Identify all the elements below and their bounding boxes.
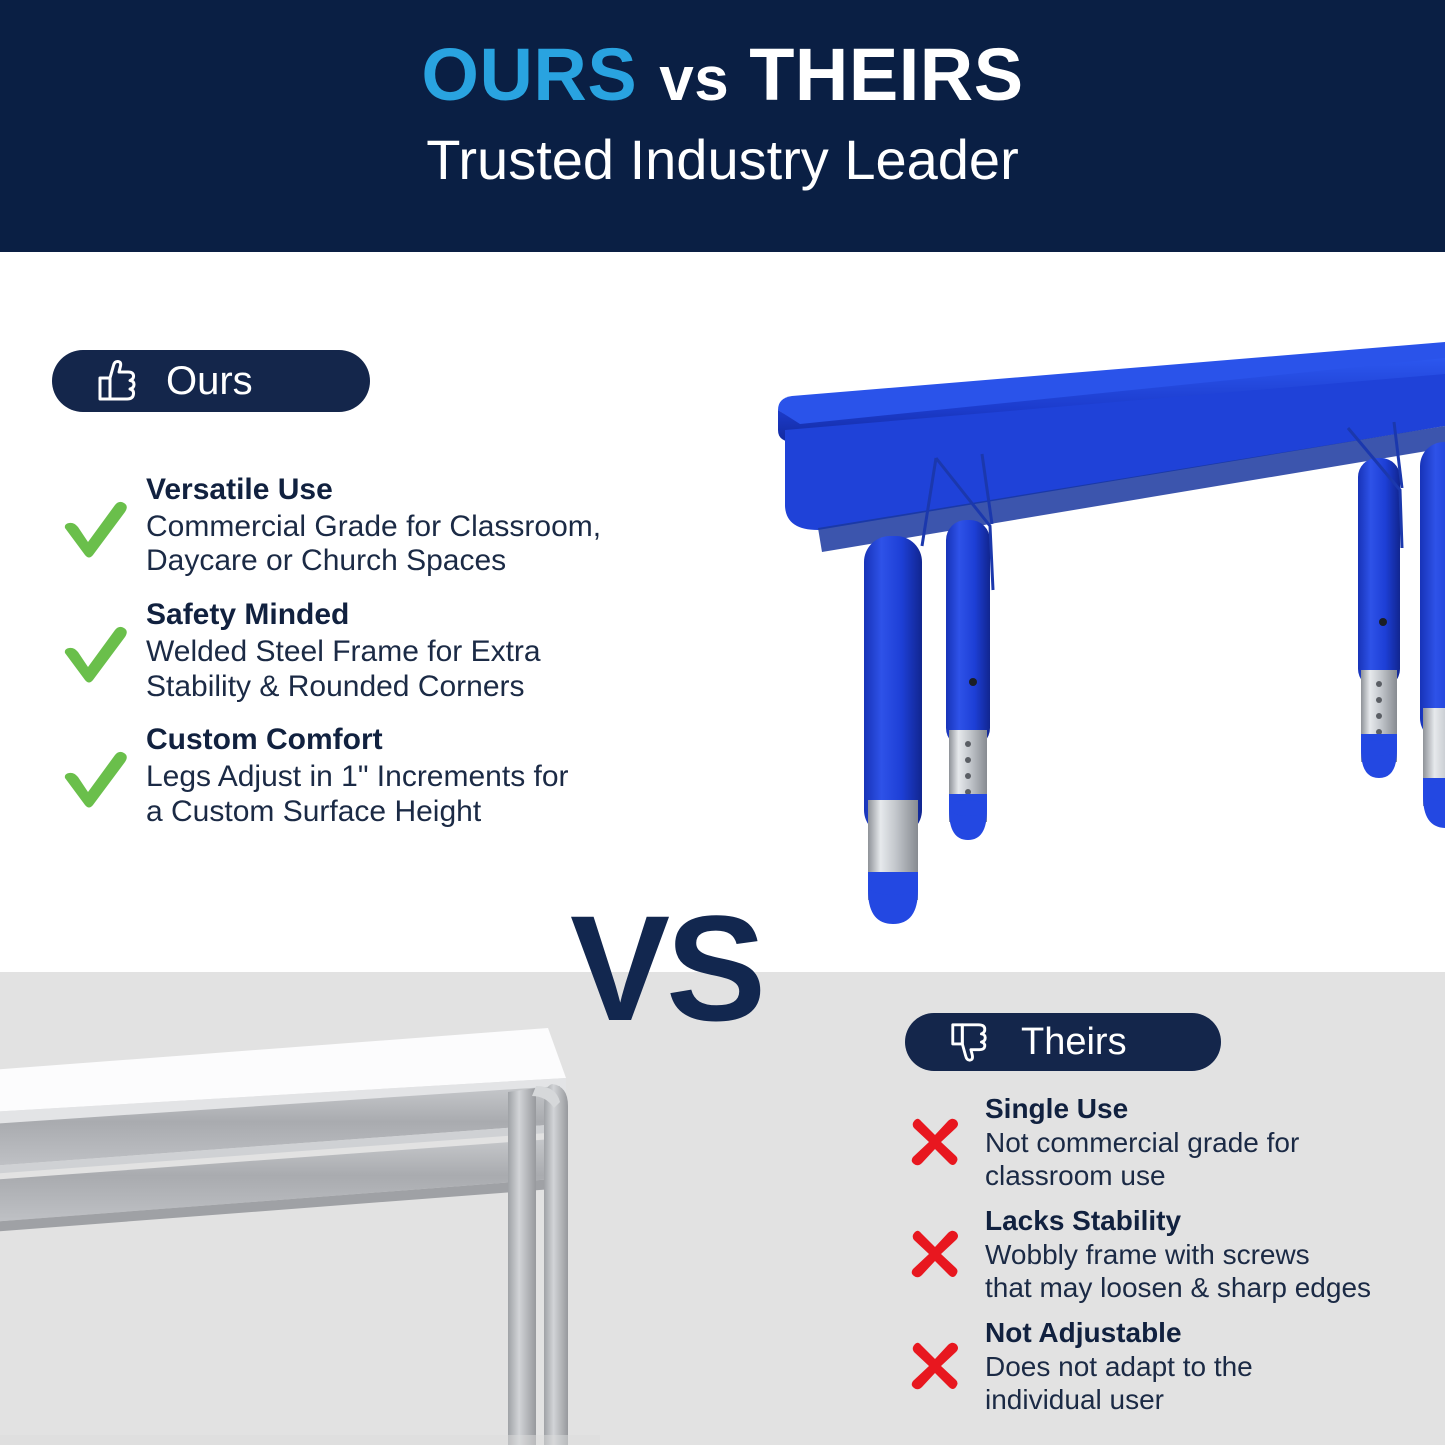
feature-desc: Does not adapt to the individual user bbox=[985, 1351, 1445, 1416]
feature-desc: Wobbly frame with screws that may loosen… bbox=[985, 1239, 1445, 1304]
theirs-badge-label: Theirs bbox=[1021, 1023, 1127, 1061]
feature-title: Custom Comfort bbox=[146, 722, 686, 759]
cons-list: Single Use Not commercial grade for clas… bbox=[885, 1092, 1445, 1428]
list-item: Not Adjustable Does not adapt to the ind… bbox=[885, 1316, 1445, 1416]
cross-icon bbox=[885, 1316, 985, 1394]
list-item: Custom Comfort Legs Adjust in 1" Increme… bbox=[46, 722, 686, 829]
list-item: Lacks Stability Wobbly frame with screws… bbox=[885, 1204, 1445, 1304]
page-subtitle: Trusted Industry Leader bbox=[0, 128, 1445, 192]
feature-title: Single Use bbox=[985, 1092, 1445, 1126]
list-item: Single Use Not commercial grade for clas… bbox=[885, 1092, 1445, 1192]
feature-desc: Commercial Grade for Classroom, Daycare … bbox=[146, 510, 686, 580]
ours-badge: Ours bbox=[52, 350, 370, 412]
check-icon bbox=[46, 722, 146, 810]
page-title: OURSvsTHEIRS bbox=[0, 38, 1445, 112]
feature-desc: Not commercial grade for classroom use bbox=[985, 1127, 1445, 1192]
list-item: Versatile Use Commercial Grade for Class… bbox=[46, 472, 686, 579]
cross-icon bbox=[885, 1204, 985, 1282]
feature-title: Not Adjustable bbox=[985, 1316, 1445, 1350]
ours-badge-label: Ours bbox=[166, 361, 253, 401]
check-icon bbox=[46, 597, 146, 685]
versus-label: VS bbox=[570, 893, 762, 1043]
feature-title: Versatile Use bbox=[146, 472, 686, 509]
check-icon bbox=[46, 472, 146, 560]
comparison-infographic: OURSvsTHEIRS Trusted Industry Leader bbox=[0, 0, 1445, 1445]
title-vs: vs bbox=[659, 45, 729, 114]
list-item: Safety Minded Welded Steel Frame for Ext… bbox=[46, 597, 686, 704]
feature-desc: Legs Adjust in 1" Increments for a Custo… bbox=[146, 760, 686, 830]
pros-list: Versatile Use Commercial Grade for Class… bbox=[46, 472, 686, 848]
feature-title: Lacks Stability bbox=[985, 1204, 1445, 1238]
theirs-product-image bbox=[0, 1020, 600, 1445]
feature-title: Safety Minded bbox=[146, 597, 686, 634]
title-theirs: THEIRS bbox=[749, 33, 1023, 116]
theirs-badge: Theirs bbox=[905, 1013, 1221, 1071]
header-banner: OURSvsTHEIRS Trusted Industry Leader bbox=[0, 0, 1445, 252]
cross-icon bbox=[885, 1092, 985, 1170]
title-ours: OURS bbox=[421, 33, 637, 116]
thumbs-up-icon bbox=[94, 359, 140, 403]
ours-product-image bbox=[760, 330, 1445, 955]
thumbs-down-icon bbox=[947, 1021, 991, 1063]
feature-desc: Welded Steel Frame for Extra Stability &… bbox=[146, 635, 686, 705]
